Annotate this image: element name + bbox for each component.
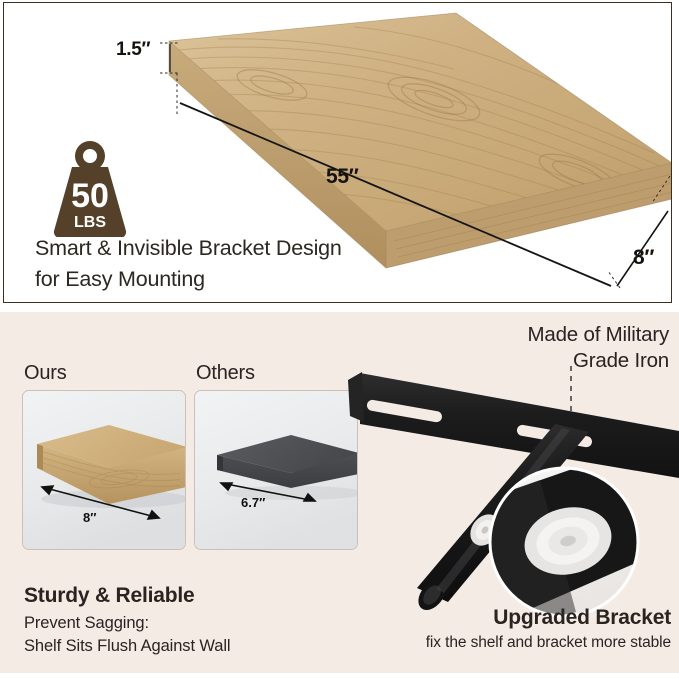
compare-label-ours: Ours [24, 362, 67, 385]
headline-line-2: for Easy Mounting [35, 264, 635, 295]
headline: Smart & Invisible Bracket Design for Eas… [35, 233, 635, 295]
weight-icon: 50 LBS [48, 137, 132, 237]
material-line-1: Made of Military [349, 322, 669, 348]
ours-shelf-photo: 8″ [23, 391, 186, 550]
feature-subtitle: Prevent Sagging: Shelf Sits Flush Agains… [24, 612, 231, 658]
upgrade-subtitle: fix the shelf and bracket more stable [331, 634, 671, 652]
depth-dimension-label: 8″ [633, 246, 654, 270]
others-dimension-label: 6.7″ [241, 495, 265, 510]
top-panel: 1.5″ 55″ 8″ 50 LBS Smart & Invisible Bra… [3, 2, 672, 303]
feature-title: Sturdy & Reliable [24, 584, 194, 608]
length-dimension-label: 55″ [326, 165, 359, 189]
weight-unit: LBS [74, 214, 106, 231]
material-line-2: Grade Iron [349, 348, 669, 374]
headline-line-1: Smart & Invisible Bracket Design [35, 233, 635, 264]
upgrade-title: Upgraded Bracket [341, 606, 671, 630]
feature-sub-line-1: Prevent Sagging: [24, 612, 231, 635]
ours-dimension-label: 8″ [83, 510, 96, 525]
thickness-dimension-label: 1.5″ [116, 39, 150, 61]
material-callout-text: Made of Military Grade Iron [349, 322, 669, 374]
weight-capacity-badge: 50 LBS [48, 137, 132, 237]
weight-value: 50 [71, 177, 109, 215]
infographic-page: 1.5″ 55″ 8″ 50 LBS Smart & Invisible Bra… [0, 0, 679, 673]
others-shelf-photo: 6.7″ [195, 391, 358, 550]
compare-card-others: 6.7″ [194, 390, 358, 550]
compare-card-ours: 8″ [22, 390, 186, 550]
feature-sub-line-2: Shelf Sits Flush Against Wall [24, 635, 231, 658]
compare-label-others: Others [196, 362, 255, 385]
